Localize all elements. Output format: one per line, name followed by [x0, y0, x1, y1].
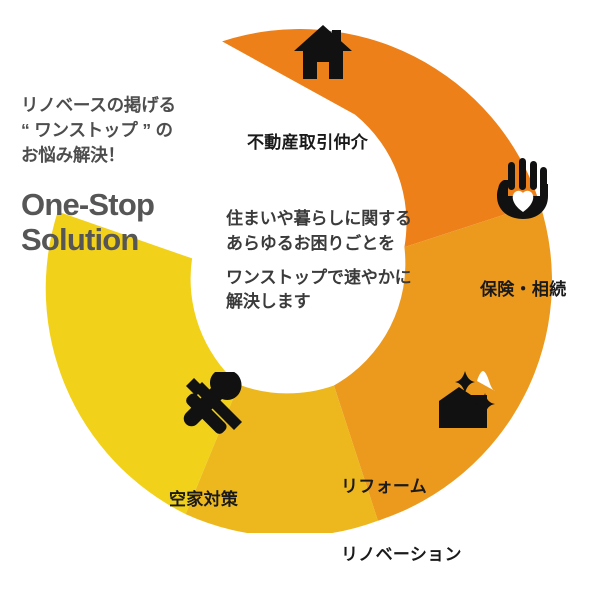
segment-label-reform[interactable]: リフォーム リノベーション [341, 430, 462, 612]
page-title: One-Stop Solution [21, 187, 221, 259]
lead-line-2: “ ワンストップ ” の [21, 118, 221, 143]
segment-label-vacant-house-line-1: 空家対策 [169, 489, 238, 512]
headline-line-1: One-Stop [21, 187, 221, 223]
segment-label-real-estate[interactable]: 不動産取引仲介 [247, 86, 368, 200]
infographic-canvas: リノベースの掲げる “ ワンストップ ” の お悩み解決！ One-Stop S… [0, 0, 600, 533]
segment-label-reform-line-2: リノベーション [341, 544, 462, 567]
segment-label-vacant-house[interactable]: 空家対策 [169, 443, 238, 557]
hand-heart-icon [496, 158, 550, 220]
house-icon [292, 24, 354, 81]
center-line-3: ワンストップで速やかに [226, 266, 456, 291]
center-line-2: あらゆるお困りごとを [226, 232, 456, 257]
center-text-spacer [226, 257, 456, 266]
center-line-1: 住まいや暮らしに関する [226, 207, 456, 232]
segment-label-insurance[interactable]: 保険・相続 [480, 233, 567, 347]
left-text-block: リノベースの掲げる “ ワンストップ ” の お悩み解決！ One-Stop S… [21, 93, 221, 258]
headline-line-2: Solution [21, 222, 221, 258]
lead-line-3: お悩み解決！ [21, 143, 221, 168]
segment-label-real-estate-line-1: 不動産取引仲介 [247, 132, 368, 155]
center-text-block: 住まいや暮らしに関する あらゆるお困りごとを ワンストップで速やかに 解決します [226, 207, 456, 315]
center-line-4: 解決します [226, 290, 456, 315]
hammer-wrench-icon [180, 372, 252, 434]
segment-label-reform-line-1: リフォーム [341, 476, 462, 499]
lead-line-1: リノベースの掲げる [21, 93, 221, 118]
segment-label-insurance-line-1: 保険・相続 [480, 279, 567, 302]
sparkle-house-icon [433, 371, 501, 433]
